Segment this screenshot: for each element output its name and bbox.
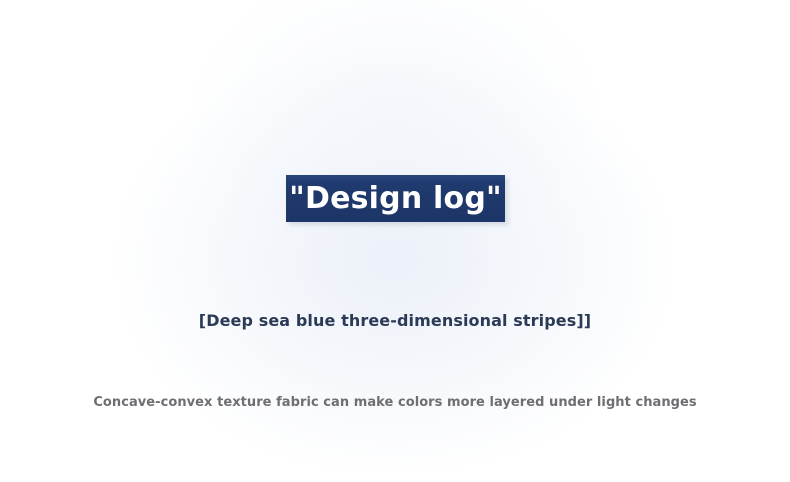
page-title: "Design log" [289, 184, 502, 214]
design-log-slide: "Design log" [Deep sea blue three-dimens… [0, 0, 790, 482]
title-banner: "Design log" [286, 175, 505, 222]
subtitle-text: [Deep sea blue three-dimensional stripes… [0, 311, 790, 330]
description-text: Concave-convex texture fabric can make c… [0, 395, 790, 410]
slide-content: "Design log" [Deep sea blue three-dimens… [0, 0, 790, 482]
